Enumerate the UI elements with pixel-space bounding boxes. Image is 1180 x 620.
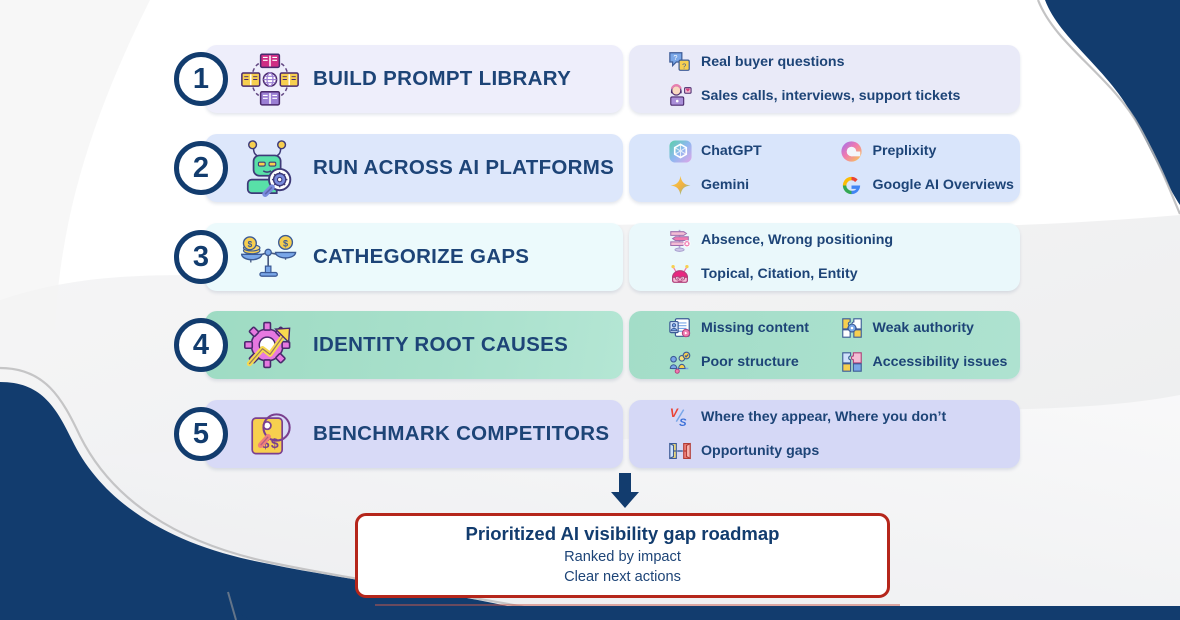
detail-item: Topical, Citation, Entity	[667, 261, 858, 287]
detail-label: Opportunity gaps	[701, 443, 819, 459]
detail-label: Google AI Overviews	[873, 177, 1014, 193]
callout-title: Prioritized AI visibility gap roadmap	[466, 523, 780, 545]
detail-label: Weak authority	[873, 320, 974, 336]
svg-text:?: ?	[673, 53, 677, 62]
versus-icon: V S	[667, 404, 693, 430]
step-2-header[interactable]: 2	[205, 134, 623, 202]
step-2-number-badge: 2	[174, 141, 228, 195]
detail-label: Absence, Wrong positioning	[701, 232, 893, 248]
puzzle-authority-icon	[839, 315, 865, 341]
detail-item: Google AI Overviews	[839, 172, 1011, 198]
step-row-2: 2	[205, 134, 1020, 202]
detail-item: Missing content	[667, 315, 839, 341]
detail-label: Where they appear, Where you don’t	[701, 409, 946, 425]
detail-label: Real buyer questions	[701, 54, 845, 70]
svg-text:?: ?	[682, 61, 686, 70]
step-5-header[interactable]: 5 $ $ BENCHMARK COMPETITORS	[205, 400, 623, 468]
svg-text:$: $	[248, 240, 253, 249]
svg-text:V: V	[670, 406, 679, 420]
step-3-details: Absence, Wrong positioning	[629, 223, 1020, 291]
question-speech-bubble-icon: ? ?	[667, 49, 693, 75]
pink-robot-icon	[667, 261, 693, 287]
support-agent-icon	[667, 83, 693, 109]
step-3-header[interactable]: 3 $	[205, 223, 623, 291]
detail-item: Accessibility issues	[839, 349, 1011, 375]
detail-item: Poor structure	[667, 349, 839, 375]
detail-label: Poor structure	[701, 354, 799, 370]
step-1-title: BUILD PROMPT LIBRARY	[313, 67, 571, 91]
puzzle-accessibility-icon	[839, 349, 865, 375]
svg-text:$: $	[271, 435, 279, 451]
step-5-details: V S Where they appear, Where you don’t	[629, 400, 1020, 468]
step-3-title: CATHEGORIZE GAPS	[313, 245, 529, 269]
detail-label: Accessibility issues	[873, 354, 1008, 370]
detail-item: Sales calls, interviews, support tickets	[667, 83, 960, 109]
detail-item: Absence, Wrong positioning	[667, 227, 893, 253]
broken-structure-icon	[667, 349, 693, 375]
gear-growth-arrow-icon	[237, 315, 303, 375]
detail-label: Missing content	[701, 320, 809, 336]
detail-label: Sales calls, interviews, support tickets	[701, 88, 960, 104]
step-4-number-badge: 4	[174, 318, 228, 372]
svg-text:$: $	[283, 238, 288, 248]
detail-label: Gemini	[701, 177, 749, 193]
detail-label: ChatGPT	[701, 143, 762, 159]
detail-label: Topical, Citation, Entity	[701, 266, 858, 282]
open-doors-icon	[667, 438, 693, 464]
callout-line-2: Clear next actions	[564, 568, 681, 588]
step-2-title: RUN ACROSS AI PLATFORMS	[313, 156, 614, 180]
down-arrow-icon	[608, 473, 642, 509]
step-4-header[interactable]: 4	[205, 311, 623, 379]
step-5-number-badge: 5	[174, 407, 228, 461]
signpost-icon	[667, 227, 693, 253]
step-1-details: ? ? Real buyer questions	[629, 45, 1020, 113]
price-tag-magnifier-icon: $ $	[237, 404, 303, 464]
perplexity-icon	[839, 138, 865, 164]
detail-label: Preplixity	[873, 143, 937, 159]
detail-item: ? ? Real buyer questions	[667, 49, 845, 75]
missing-document-icon	[667, 315, 693, 341]
svg-text:S: S	[679, 417, 687, 429]
chatgpt-icon	[667, 138, 693, 164]
step-row-1: 1	[205, 45, 1020, 113]
step-3-number-badge: 3	[174, 230, 228, 284]
infographic-canvas: 1	[0, 0, 1180, 620]
detail-item: Gemini	[667, 172, 839, 198]
detail-item: Opportunity gaps	[667, 438, 819, 464]
step-row-3: 3 $	[205, 223, 1020, 291]
gemini-sparkle-icon	[667, 172, 693, 198]
step-row-5: 5 $ $ BENCHMARK COMPETITORS	[205, 400, 1020, 468]
balance-scale-coins-icon: $ $	[237, 227, 303, 287]
step-5-title: BENCHMARK COMPETITORS	[313, 422, 609, 446]
step-row-4: 4	[205, 311, 1020, 379]
callout-line-1: Ranked by impact	[564, 548, 681, 568]
step-2-details: ChatGPT Preplixit	[629, 134, 1020, 202]
step-4-title: IDENTITY ROOT CAUSES	[313, 333, 568, 357]
detail-item: Weak authority	[839, 315, 1011, 341]
books-network-icon	[237, 49, 303, 109]
step-1-header[interactable]: 1	[205, 45, 623, 113]
step-4-details: Missing content Wea	[629, 311, 1020, 379]
outcome-callout: Prioritized AI visibility gap roadmap Ra…	[355, 513, 890, 598]
robot-magnifier-icon	[237, 138, 303, 198]
detail-item: V S Where they appear, Where you don’t	[667, 404, 946, 430]
detail-item: Preplixity	[839, 138, 1011, 164]
step-1-number-badge: 1	[174, 52, 228, 106]
detail-item: ChatGPT	[667, 138, 839, 164]
google-g-icon	[839, 172, 865, 198]
